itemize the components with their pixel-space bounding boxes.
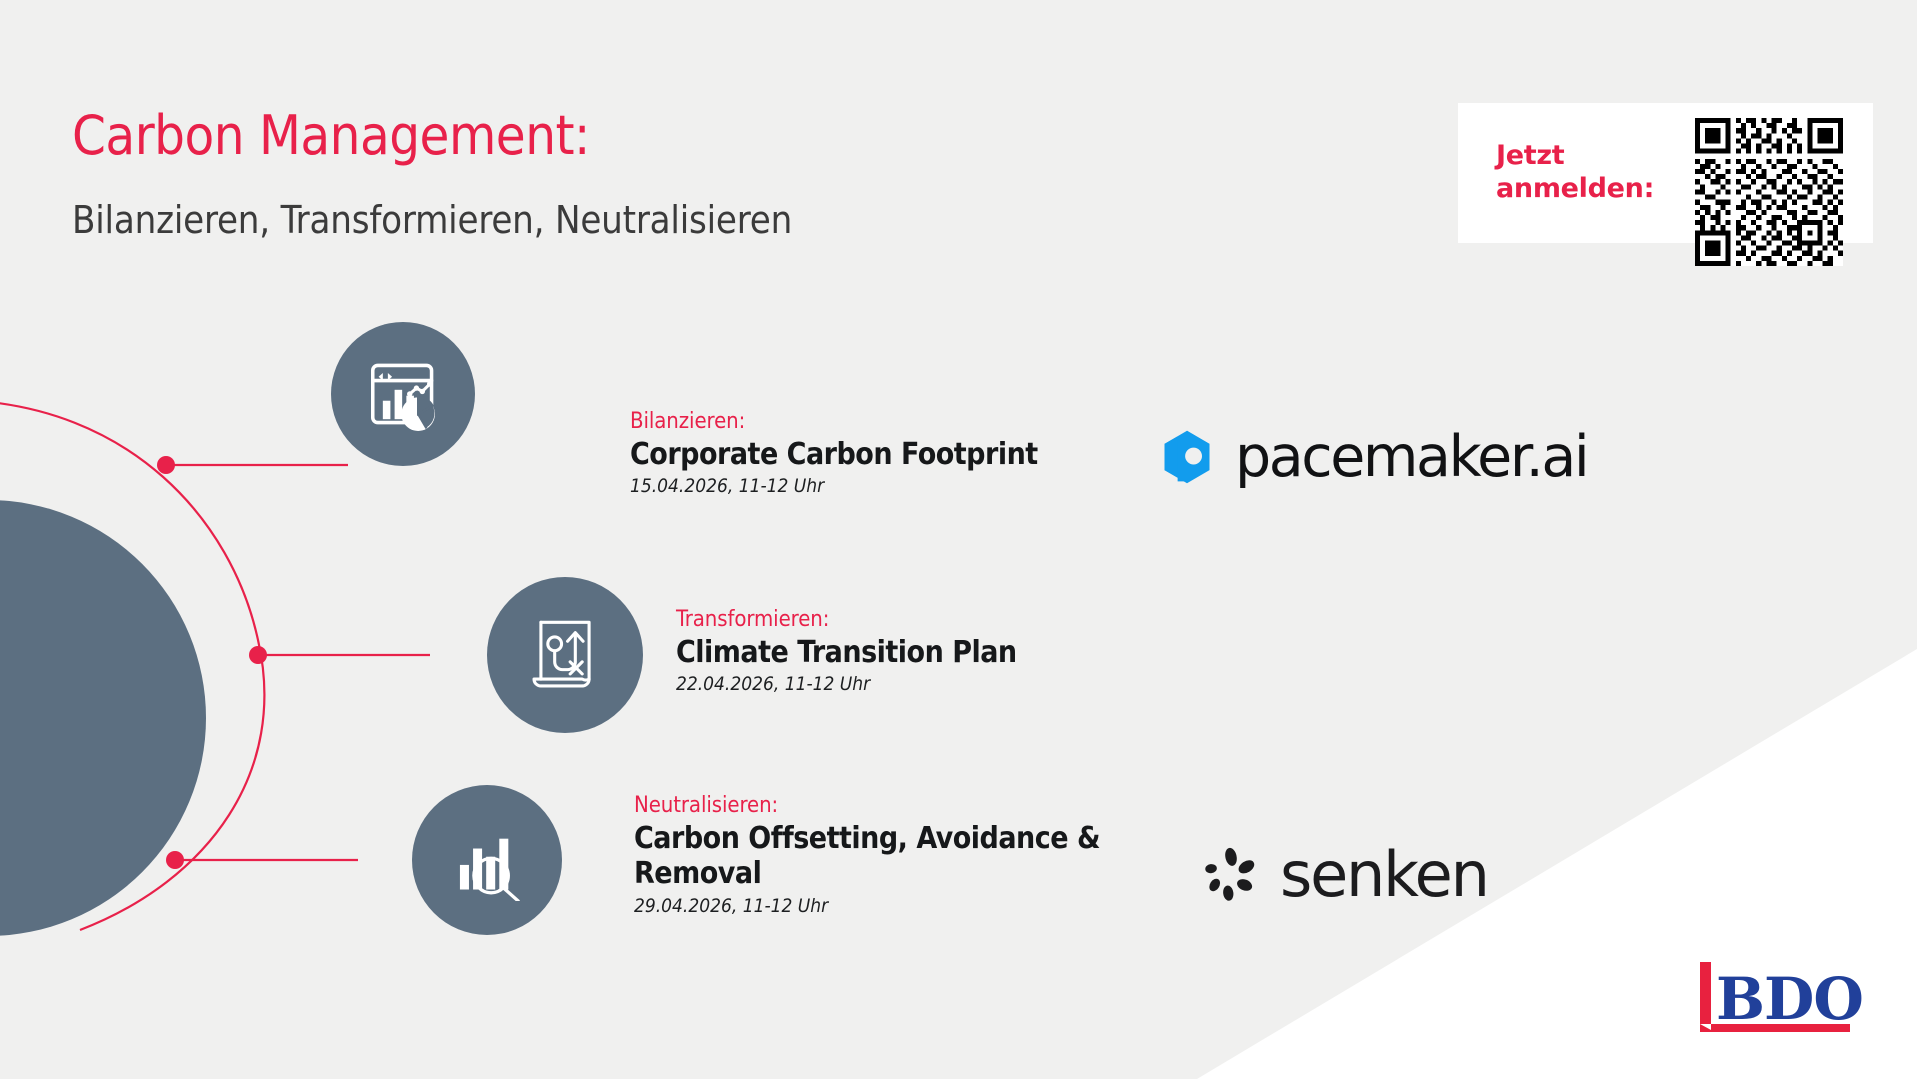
partner-logo-pacemaker-text: pacemaker.ai [1235,424,1587,490]
bdo-logo-bar-vertical [1700,962,1711,1030]
connector-node-1 [157,456,175,474]
registration-label: Jetzt anmelden: [1496,140,1681,206]
partner-logo-senken: senken [1202,838,1488,911]
pacemaker-hex-icon [1157,427,1217,487]
session-kicker-3: Neutralisieren: [634,793,1194,820]
session-text-2: Transformieren: Climate Transition Plan … [676,607,1017,697]
partner-logo-pacemaker: pacemaker.ai [1157,424,1587,490]
strategy-plan-icon [522,612,608,698]
registration-label-line1: Jetzt [1496,140,1681,173]
connector-node-3 [166,851,184,869]
bdo-logo-text: BDO [1716,965,1863,1033]
session-title-3: Carbon Offsetting, Avoidance & Removal [634,821,1194,892]
session-title-2: Climate Transition Plan [676,635,1017,670]
session-date-3: 29.04.2026, 11-12 Uhr [634,895,1194,919]
session-text-1: Bilanzieren: Corporate Carbon Footprint … [630,409,1038,499]
session-kicker-1: Bilanzieren: [630,409,1038,436]
page-title: Carbon Management: [72,108,590,164]
session-text-3: Neutralisieren: Carbon Offsetting, Avoid… [634,793,1194,918]
partner-logo-senken-text: senken [1280,838,1488,911]
banner-canvas: Carbon Management: Bilanzieren, Transfor… [0,0,1917,1079]
connector-node-2 [249,646,267,664]
bdo-logo-icon: BDO [1700,962,1864,1038]
session-date-2: 22.04.2026, 11-12 Uhr [676,673,1017,697]
qr-code-icon[interactable] [1683,118,1855,266]
bar-chart-search-icon [446,819,528,901]
senken-petal-icon [1202,846,1260,904]
dashboard-analytics-icon [361,352,445,436]
session-title-1: Corporate Carbon Footprint [630,437,1038,472]
decorative-slate-circle [0,500,206,936]
registration-label-line2: anmelden: [1496,173,1681,206]
registration-card[interactable]: Jetzt anmelden: [1458,103,1873,243]
session-icon-badge-1 [331,322,475,466]
session-icon-badge-2 [487,577,643,733]
session-kicker-2: Transformieren: [676,607,1017,634]
session-icon-badge-3 [412,785,562,935]
page-subtitle: Bilanzieren, Transformieren, Neutralisie… [72,200,792,242]
session-date-1: 15.04.2026, 11-12 Uhr [630,475,1038,499]
